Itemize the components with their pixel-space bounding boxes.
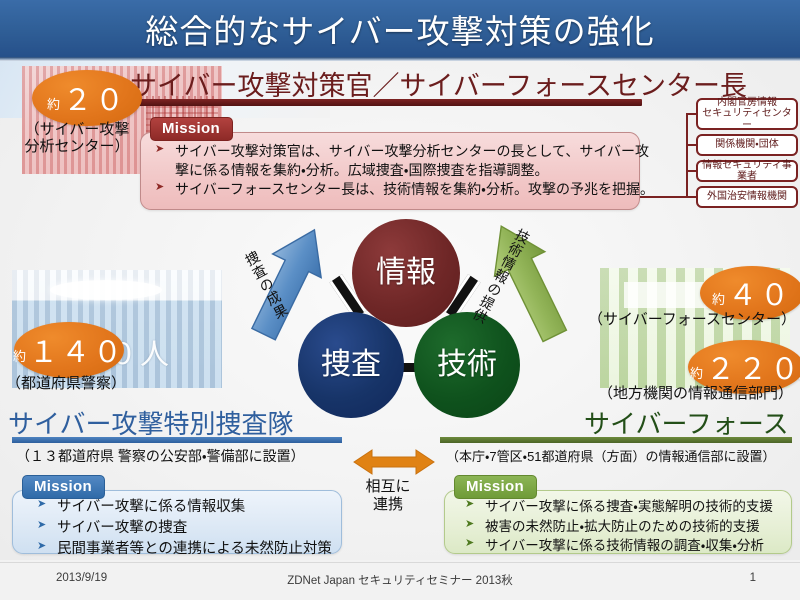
badge-caption-40: （サイバーフォースセンター） bbox=[588, 308, 796, 329]
section-left-subheading: （１３都道府県 警察の公安部・警備部に設置） bbox=[16, 446, 305, 466]
badge-140-approx: 約 bbox=[13, 346, 26, 365]
mission-top-item-1-cont: 撃に係る情報を集約・分析。広域捜査・国際捜査を指導調整。 bbox=[153, 161, 639, 180]
footer-center: ZDNet Japan セキュリティセミナー 2013秋 bbox=[0, 572, 800, 588]
org-box-foreign-agencies: 外国治安情報機関 bbox=[696, 186, 798, 208]
section-right-rule bbox=[440, 437, 792, 443]
mission-top-item-1: サイバー攻撃対策官は、サイバー攻撃分析センターの長として、サイバー攻 bbox=[153, 142, 639, 161]
circle-technology: 技術 bbox=[414, 312, 520, 418]
org-box-foreign-agencies-label: 外国治安情報機関 bbox=[707, 191, 787, 203]
badge-count-20: 約 ２０ bbox=[32, 70, 142, 126]
footer-divider bbox=[0, 562, 800, 563]
badge-220-approx: 約 bbox=[690, 363, 703, 382]
badge-caption-20-line2: 分析センター） bbox=[2, 139, 152, 156]
mission-top-tag: Mission bbox=[150, 117, 233, 141]
mutual-cooperation-arrow-icon bbox=[352, 448, 436, 476]
mission-top-item-2: サイバーフォースセンター長は、技術情報を集約・分析。攻撃の予兆を把握。 bbox=[153, 180, 639, 199]
mission-left-item-2: サイバー攻撃の捜査 bbox=[35, 518, 341, 539]
org-chart-spine bbox=[686, 113, 688, 197]
mission-top-list: サイバー攻撃対策官は、サイバー攻撃分析センターの長として、サイバー攻 撃に係る情… bbox=[141, 133, 639, 199]
org-box-nisc: 内閣官房情報 セキュリティセンター bbox=[696, 98, 798, 130]
footer-page-number: 1 bbox=[750, 572, 756, 584]
slide-title: 総合的なサイバー攻撃対策の強化 bbox=[0, 2, 800, 55]
mission-right-item-2: 被害の未然防止・拡大防止のための技術的支援 bbox=[463, 517, 791, 537]
mission-left-body: サイバー攻撃に係る情報収集 サイバー攻撃の捜査 民間事業者等との連携による未然防… bbox=[12, 490, 342, 554]
mutual-cooperation-label: 相互に 連携 bbox=[344, 478, 432, 515]
section-left-heading: サイバー攻撃特別捜査隊 bbox=[8, 404, 293, 441]
slide-canvas: 総合的なサイバー攻撃対策の強化 サイバー攻撃対策官／サイバーフォースセンター長 … bbox=[0, 0, 800, 600]
mission-right-tag: Mission bbox=[454, 475, 537, 499]
section-top-rule bbox=[134, 99, 642, 106]
circle-investigation: 捜査 bbox=[298, 312, 404, 418]
mutual-label-line2: 連携 bbox=[344, 496, 432, 514]
badge-caption-140: （都道府県警察） bbox=[6, 372, 126, 393]
org-box-related-orgs: 関係機関・団体 bbox=[696, 134, 798, 156]
badge-caption-20-line1: （サイバー攻撃 bbox=[2, 122, 152, 139]
badge-approx-label: 約 bbox=[47, 94, 60, 113]
org-box-security-vendors: 情報セキュリティ事業者 bbox=[696, 160, 798, 182]
badge-40-approx: 約 bbox=[712, 289, 725, 308]
section-right-subheading: （本庁・7管区・51都道府県（方面）の情報通信部に設置） bbox=[446, 446, 776, 465]
mission-right-item-3: サイバー攻撃に係る技術情報の調査・収集・分析 bbox=[463, 536, 791, 556]
section-top-heading: サイバー攻撃対策官／サイバーフォースセンター長 bbox=[130, 64, 747, 103]
mission-right-body: サイバー攻撃に係る捜査・実態解明の技術的支援 被害の未然防止・拡大防止のための技… bbox=[444, 490, 792, 554]
slide-footer: 2013/9/19 ZDNet Japan セキュリティセミナー 2013秋 1 bbox=[0, 566, 800, 596]
mission-right-list: サイバー攻撃に係る捜査・実態解明の技術的支援 被害の未然防止・拡大防止のための技… bbox=[445, 491, 791, 556]
mission-left-list: サイバー攻撃に係る情報収集 サイバー攻撃の捜査 民間事業者等との連携による未然防… bbox=[13, 491, 341, 560]
mission-top-body: サイバー攻撃対策官は、サイバー攻撃分析センターの長として、サイバー攻 撃に係る情… bbox=[140, 132, 640, 210]
badge-caption-20: （サイバー攻撃 分析センター） bbox=[2, 122, 152, 156]
mission-left-tag: Mission bbox=[22, 475, 105, 499]
mutual-label-line1: 相互に bbox=[344, 478, 432, 496]
section-right-heading: サイバーフォース bbox=[584, 404, 789, 441]
circle-information: 情報 bbox=[352, 219, 460, 327]
org-box-related-orgs-label: 関係機関・団体 bbox=[715, 139, 778, 151]
mission-box-right: サイバー攻撃に係る捜査・実態解明の技術的支援 被害の未然防止・拡大防止のための技… bbox=[444, 476, 792, 554]
org-chart: 内閣官房情報 セキュリティセンター 関係機関・団体 情報セキュリティ事業者 外国… bbox=[686, 98, 798, 226]
section-left-rule bbox=[12, 437, 342, 443]
title-underline bbox=[0, 57, 800, 61]
badge-caption-220: （地方機関の情報通信部門） bbox=[598, 382, 793, 403]
mission-left-item-1: サイバー攻撃に係る情報収集 bbox=[35, 497, 341, 518]
org-box-security-vendors-label: 情報セキュリティ事業者 bbox=[698, 160, 796, 183]
mission-box-left: サイバー攻撃に係る情報収集 サイバー攻撃の捜査 民間事業者等との連携による未然防… bbox=[12, 476, 342, 554]
circle-information-label: 情報 bbox=[376, 258, 436, 289]
badge-number: ２０ bbox=[63, 77, 127, 119]
circle-investigation-label: 捜査 bbox=[321, 350, 381, 381]
mission-box-top: サイバー攻撃対策官は、サイバー攻撃分析センターの長として、サイバー攻 撃に係る情… bbox=[140, 118, 640, 210]
badge-140-number: １４０ bbox=[29, 329, 125, 371]
mission-right-item-1: サイバー攻撃に係る捜査・実態解明の技術的支援 bbox=[463, 497, 791, 517]
badge-count-140: 約 １４０ bbox=[14, 322, 124, 378]
circle-technology-label: 技術 bbox=[437, 350, 497, 381]
org-box-nisc-label: 内閣官房情報 セキュリティセンター bbox=[698, 97, 796, 132]
mission-left-item-3: 民間事業者等との連携による未然防止対策 bbox=[35, 539, 341, 560]
